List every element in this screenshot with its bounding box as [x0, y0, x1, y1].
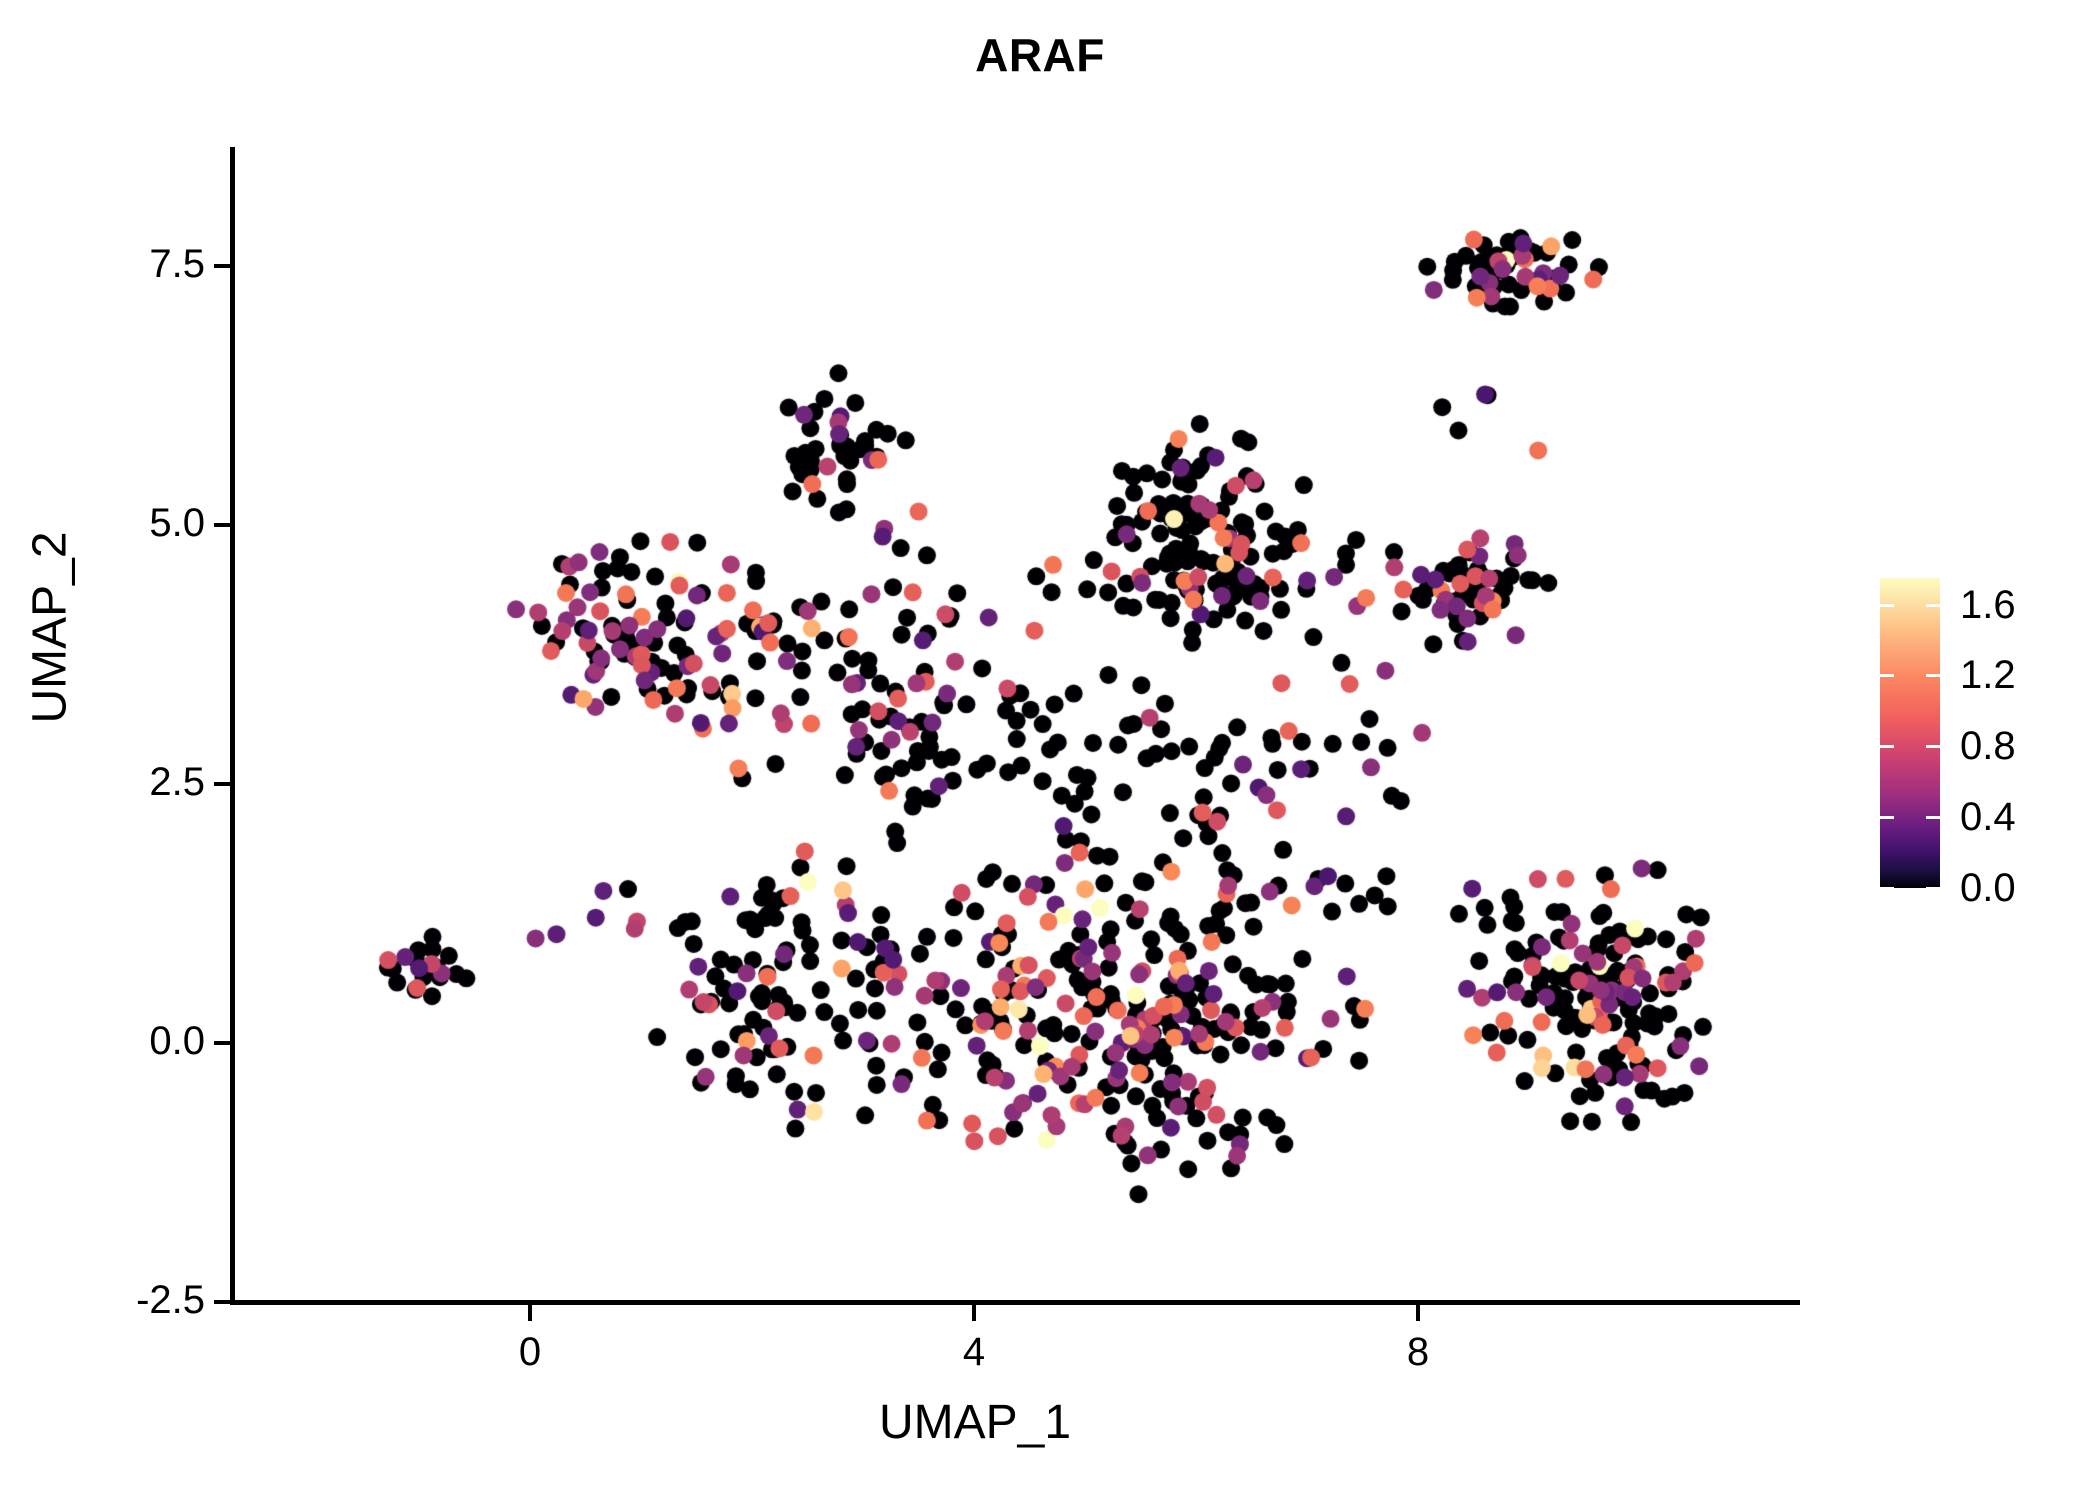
colorbar-gradient [1880, 578, 1940, 888]
plot-canvas: ARAF 7.55.02.50.0-2.5 048 UMAP_2 UMAP_1 … [0, 0, 2100, 1500]
colorbar-legend: 1.61.20.80.40.0 [1880, 578, 1940, 888]
colorbar-tick-mark [1926, 604, 1940, 607]
x-tick-label: 4 [904, 1330, 1044, 1375]
colorbar-tick-label: 0.0 [1960, 868, 2080, 908]
x-axis-line [230, 1300, 1800, 1305]
y-tick-mark [214, 264, 230, 268]
y-tick-label: 2.5 [60, 762, 205, 802]
colorbar-tick-mark [1926, 745, 1940, 748]
scatter-plot-canvas [0, 0, 2100, 1500]
x-tick-label: 8 [1348, 1330, 1488, 1375]
x-tick-mark [972, 1305, 976, 1321]
y-tick-mark [214, 1300, 230, 1304]
x-axis-title: UMAP_1 [530, 1395, 1420, 1450]
colorbar-tick-mark [1880, 816, 1894, 819]
colorbar-tick-label: 0.4 [1960, 797, 2080, 837]
colorbar-tick-mark [1926, 887, 1940, 890]
colorbar-tick-label: 0.8 [1960, 726, 2080, 766]
y-axis-title: UMAP_2 [23, 418, 78, 838]
y-tick-mark [214, 782, 230, 786]
y-tick-label: 7.5 [60, 244, 205, 284]
colorbar-tick-mark [1880, 674, 1894, 677]
colorbar-tick-mark [1880, 745, 1894, 748]
x-tick-label: 0 [460, 1330, 600, 1375]
colorbar-tick-label: 1.6 [1960, 585, 2080, 625]
colorbar-tick-mark [1926, 816, 1940, 819]
colorbar-tick-mark [1926, 674, 1940, 677]
y-axis-line [230, 147, 235, 1305]
y-tick-label: 5.0 [60, 503, 205, 543]
y-tick-mark [214, 1041, 230, 1045]
x-tick-mark [528, 1305, 532, 1321]
y-tick-mark [214, 523, 230, 527]
y-tick-label: 0.0 [60, 1021, 205, 1061]
colorbar-tick-mark [1880, 887, 1894, 890]
colorbar-tick-label: 1.2 [1960, 655, 2080, 695]
colorbar-tick-mark [1880, 604, 1894, 607]
x-tick-mark [1416, 1305, 1420, 1321]
y-tick-label: -2.5 [60, 1280, 205, 1320]
